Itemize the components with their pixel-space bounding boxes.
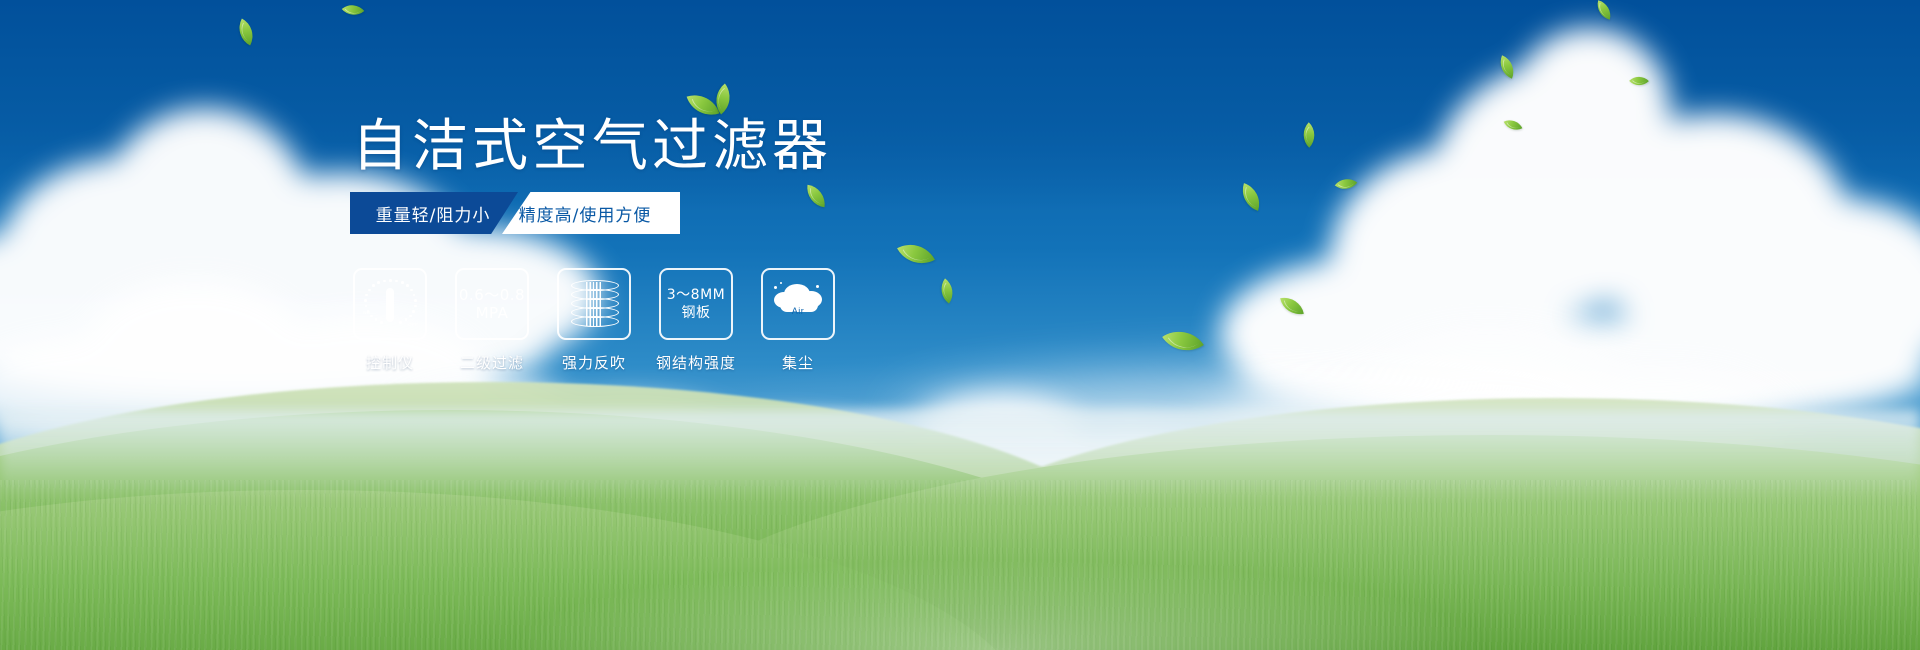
dust-cloud-icon: Air bbox=[772, 282, 824, 326]
page-title: 自洁式空气过滤器 bbox=[352, 116, 832, 178]
tag-weight-resistance[interactable]: 重量轻/阻力小 bbox=[350, 192, 518, 234]
banner-stage: 自洁式空气过滤器 重量轻/阻力小 精度高/使用方便 bbox=[0, 0, 1920, 650]
filter-coil-icon bbox=[571, 279, 617, 329]
pressure-value: 0.6～0.8 bbox=[459, 286, 525, 304]
feature-label: 钢结构强度 bbox=[656, 352, 736, 373]
feature-list: NO OFF 控制仪 0.6～0.8 MPA 二级过滤 bbox=[352, 268, 836, 373]
feature-steel-structure[interactable]: 3～8MM 钢板 钢结构强度 bbox=[658, 268, 734, 373]
steel-material: 钢板 bbox=[682, 304, 711, 322]
feature-label: 二级过滤 bbox=[460, 352, 524, 373]
feature-icon-box: 0.6～0.8 MPA bbox=[455, 268, 529, 340]
tag-precision-convenience[interactable]: 精度高/使用方便 bbox=[502, 192, 680, 234]
feature-secondary-filter[interactable]: 0.6～0.8 MPA 二级过滤 bbox=[454, 268, 530, 373]
tag-row: 重量轻/阻力小 精度高/使用方便 bbox=[350, 192, 680, 234]
gauge-label-off: OFF bbox=[408, 322, 418, 327]
banner-content: 自洁式空气过滤器 重量轻/阻力小 精度高/使用方便 bbox=[0, 0, 1920, 650]
feature-blowback[interactable]: 强力反吹 bbox=[556, 268, 632, 373]
feature-icon-box: 3～8MM 钢板 bbox=[659, 268, 733, 340]
pressure-unit: MPA bbox=[476, 304, 509, 322]
feature-label: 控制仪 bbox=[366, 352, 414, 373]
dust-air-label: Air bbox=[772, 306, 824, 316]
gauge-dial-icon: NO OFF bbox=[364, 279, 416, 329]
feature-icon-box: NO OFF bbox=[353, 268, 427, 340]
gauge-label-no: NO bbox=[363, 310, 370, 315]
feature-controller[interactable]: NO OFF 控制仪 bbox=[352, 268, 428, 373]
feature-icon-box bbox=[557, 268, 631, 340]
steel-thickness: 3～8MM bbox=[667, 286, 725, 304]
feature-label: 集尘 bbox=[782, 352, 814, 373]
feature-dust-collection[interactable]: Air 集尘 bbox=[760, 268, 836, 373]
feature-icon-box: Air bbox=[761, 268, 835, 340]
feature-label: 强力反吹 bbox=[562, 352, 626, 373]
